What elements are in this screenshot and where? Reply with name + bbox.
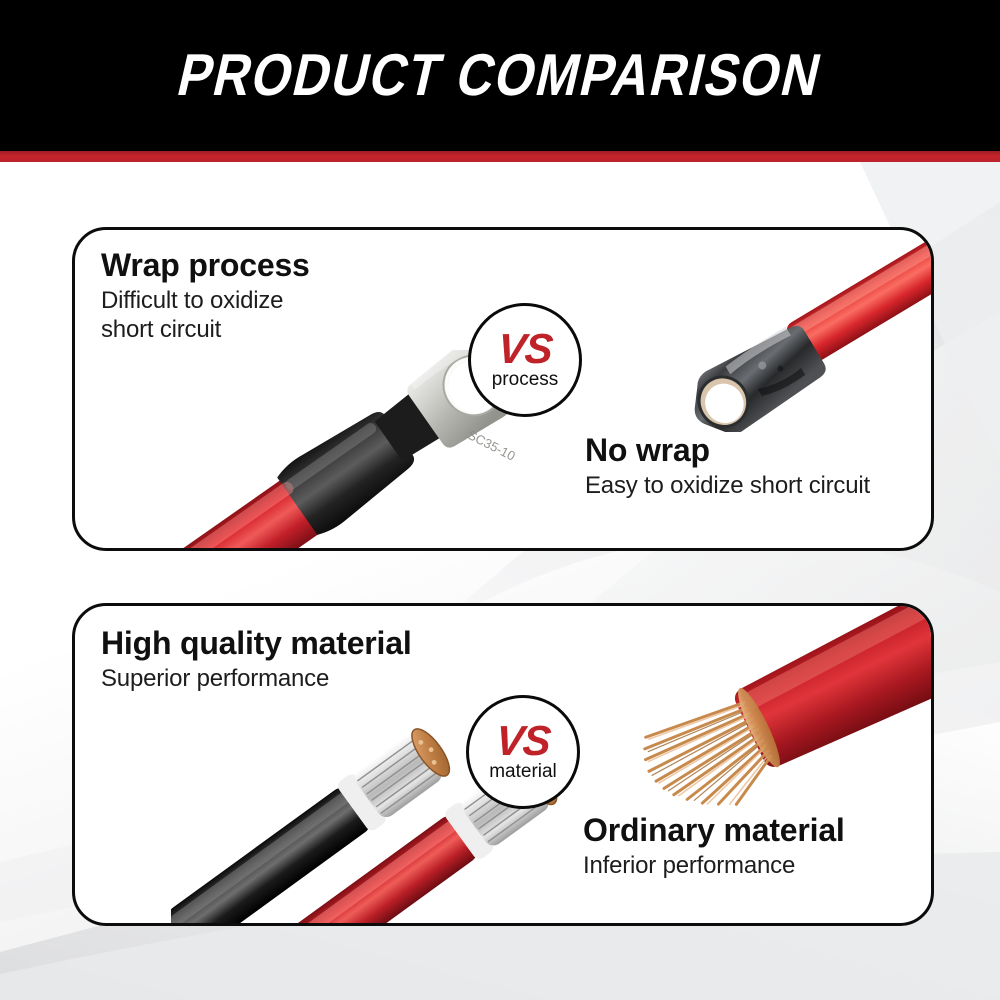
header-accent-rule — [0, 151, 1000, 162]
page-title: PRODUCT COMPARISON — [172, 46, 827, 105]
panel2-good-text: High quality material Superior performan… — [101, 626, 412, 694]
vs-badge-sub-label: process — [492, 370, 559, 389]
vs-badge-main-label-2: VS — [494, 723, 551, 759]
vs-badge-main-label: VS — [496, 331, 553, 367]
panel1-good-subtext: Difficult to oxidize short circuit — [101, 287, 310, 344]
svg-text:SC35-10: SC35-10 — [465, 427, 518, 464]
panel2-bad-subtext: Inferior performance — [583, 852, 845, 880]
panel1-bad-subtext: Easy to oxidize short circuit — [585, 472, 870, 500]
panel1-bad-heading: No wrap — [585, 433, 870, 468]
header-banner: PRODUCT COMPARISON — [0, 0, 1000, 151]
image-bare-copper-cable — [623, 603, 934, 842]
panel1-bad-text: No wrap Easy to oxidize short circuit — [585, 433, 870, 501]
panel2-good-heading: High quality material — [101, 626, 412, 661]
vs-badge-sub-label-2: material — [489, 762, 557, 781]
vs-badge-material: VS material — [466, 695, 580, 809]
image-bare-lug-no-wrap — [641, 227, 934, 432]
panel1-good-heading: Wrap process — [101, 248, 310, 283]
panel2-good-subtext: Superior performance — [101, 665, 412, 693]
panel1-good-subtext-line2: short circuit — [101, 316, 310, 344]
panel1-good-subtext-line1: Difficult to oxidize — [101, 287, 310, 315]
panel2-bad-text: Ordinary material Inferior performance — [583, 813, 845, 881]
product-comparison-infographic: PRODUCT COMPARISON — [0, 0, 1000, 1000]
panel2-bad-heading: Ordinary material — [583, 813, 845, 848]
panel1-good-text: Wrap process Difficult to oxidize short … — [101, 248, 310, 344]
vs-badge-process: VS process — [468, 303, 582, 417]
